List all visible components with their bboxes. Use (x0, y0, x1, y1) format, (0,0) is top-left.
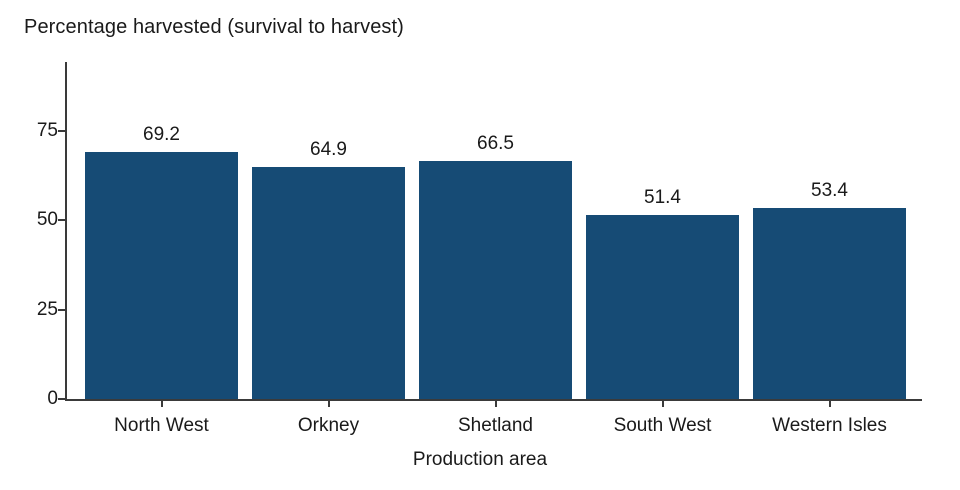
x-tick-mark (829, 400, 831, 407)
x-category-label: Orkney (245, 414, 412, 437)
bar-value-label: 64.9 (252, 140, 405, 159)
bar (85, 152, 238, 399)
x-category-label: North West (78, 414, 245, 437)
x-tick-mark (328, 400, 330, 407)
x-category-label: Western Isles (746, 414, 913, 437)
bar (586, 215, 739, 399)
x-axis-title: Production area (0, 448, 960, 471)
x-category-label: South West (579, 414, 746, 437)
bar-value-label: 53.4 (753, 181, 906, 200)
x-category-label: Shetland (412, 414, 579, 437)
bar (419, 161, 572, 399)
bar-chart-figure: Percentage harvested (survival to harves… (0, 0, 960, 490)
bar-value-label: 66.5 (419, 134, 572, 153)
bar-value-label: 69.2 (85, 125, 238, 144)
bar (252, 167, 405, 399)
x-tick-mark (495, 400, 497, 407)
x-tick-mark (161, 400, 163, 407)
bar (753, 208, 906, 399)
x-tick-mark (662, 400, 664, 407)
bar-value-label: 51.4 (586, 188, 739, 207)
